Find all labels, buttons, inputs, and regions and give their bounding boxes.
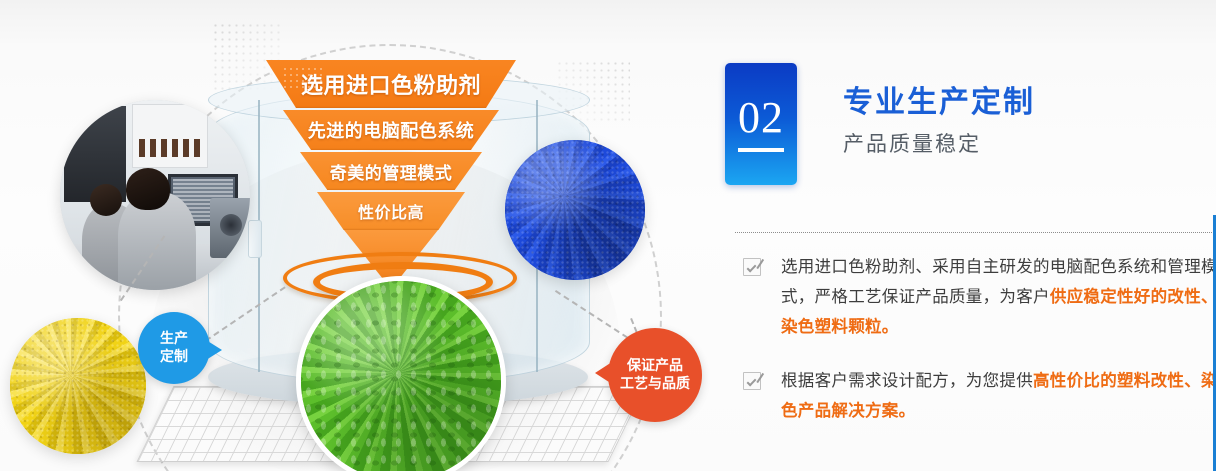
list-item: 选用进口色粉助剂、采用自主研发的电脑配色系统和管理模式，严格工艺保证产品质量，为… [725, 252, 1216, 342]
section-number: 02 [738, 96, 784, 152]
bubble-quality-line1: 保证产品 [627, 357, 683, 375]
funnel-diagram: 选用进口色粉助剂 先进的电脑配色系统 奇美的管理模式 性价比高 [266, 60, 516, 260]
page-subtitle: 产品质量稳定 [843, 132, 1035, 157]
feature-text-2: 根据客户需求设计配方，为您提供高性价比的塑料改性、染色产品解决方案。 [781, 366, 1216, 426]
green-granules-texture [301, 281, 501, 471]
bubble-production-tail [206, 340, 222, 360]
check-icon [743, 258, 761, 276]
yellow-pigment-photo [10, 318, 146, 454]
feature-2-normal: 根据客户需求设计配方，为您提供 [781, 372, 1033, 390]
bubble-production-line1: 生产 [160, 330, 188, 348]
section-heading-text: 专业生产定制 产品质量稳定 [843, 63, 1035, 157]
glass-door-handle-left [248, 220, 262, 258]
bubble-quality-line2: 工艺与品质 [620, 375, 690, 393]
lab-worker-1-head [90, 184, 122, 216]
lab-worker-2-head [126, 168, 170, 210]
funnel-layer-1: 选用进口色粉助剂 [266, 60, 516, 108]
blue-pigment-photo [505, 140, 645, 280]
yellow-powder-texture [10, 318, 146, 454]
blue-powder-texture [505, 140, 645, 280]
bubble-quality-tail [595, 362, 612, 384]
funnel-dot-texture [282, 66, 322, 88]
funnel-layer-1-label: 选用进口色粉助剂 [301, 68, 481, 100]
section-header: 02 专业生产定制 产品质量稳定 [725, 63, 1035, 185]
lab-instrument [210, 198, 250, 258]
left-graphic-panel: 选用进口色粉助剂 先进的电脑配色系统 奇美的管理模式 性价比高 [0, 0, 716, 471]
lab-wall-board [132, 104, 208, 168]
page-title: 专业生产定制 [843, 85, 1035, 121]
bubble-production-line2: 定制 [160, 348, 188, 366]
funnel-layer-4-label: 性价比高 [358, 199, 424, 223]
funnel-layer-2: 先进的电脑配色系统 [283, 110, 499, 150]
check-icon [743, 372, 761, 390]
section-number-badge: 02 [725, 63, 797, 185]
funnel-layer-3: 奇美的管理模式 [300, 152, 482, 190]
list-item: 根据客户需求设计配方，为您提供高性价比的塑料改性、染色产品解决方案。 [725, 366, 1216, 426]
bubble-production-custom: 生产 定制 [138, 312, 210, 384]
green-granules-photo [296, 276, 506, 471]
promo-banner: 选用进口色粉助剂 先进的电脑配色系统 奇美的管理模式 性价比高 [0, 0, 1216, 471]
header-divider [735, 232, 1216, 233]
funnel-layer-3-label: 奇美的管理模式 [330, 159, 453, 184]
lab-photo [60, 100, 250, 290]
funnel-layer-4: 性价比高 [317, 192, 465, 230]
bubble-quality-assurance: 保证产品 工艺与品质 [608, 328, 702, 422]
right-content-panel: 02 专业生产定制 产品质量稳定 选用进口色粉助剂、采用自主研发的电脑配色系统和… [716, 0, 1216, 471]
feature-text-1: 选用进口色粉助剂、采用自主研发的电脑配色系统和管理模式，严格工艺保证产品质量，为… [781, 252, 1216, 342]
funnel-layer-2-label: 先进的电脑配色系统 [308, 117, 475, 143]
feature-list: 选用进口色粉助剂、采用自主研发的电脑配色系统和管理模式，严格工艺保证产品质量，为… [725, 252, 1216, 450]
